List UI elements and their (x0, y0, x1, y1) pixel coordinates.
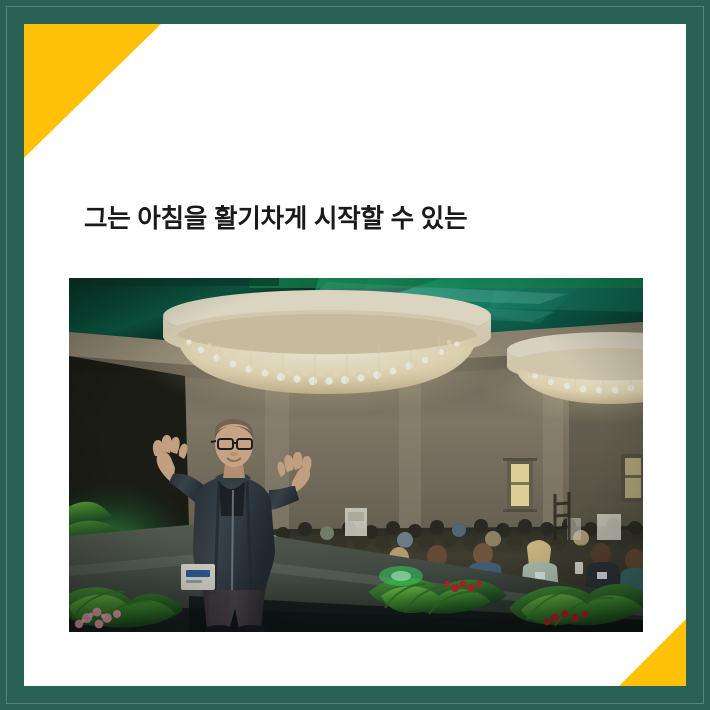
headline-line-1: 그는 아침을 활기차게 시작할 수 있는 (84, 201, 644, 237)
card-inner-page: 그는 아침을 활기차게 시작할 수 있는 자신만의 루틴 6가지를 찾아 실행했… (24, 24, 686, 686)
conference-photo-illustration (69, 278, 643, 632)
conference-photo (69, 278, 643, 632)
social-card: 그는 아침을 활기차게 시작할 수 있는 자신만의 루틴 6가지를 찾아 실행했… (0, 0, 710, 710)
